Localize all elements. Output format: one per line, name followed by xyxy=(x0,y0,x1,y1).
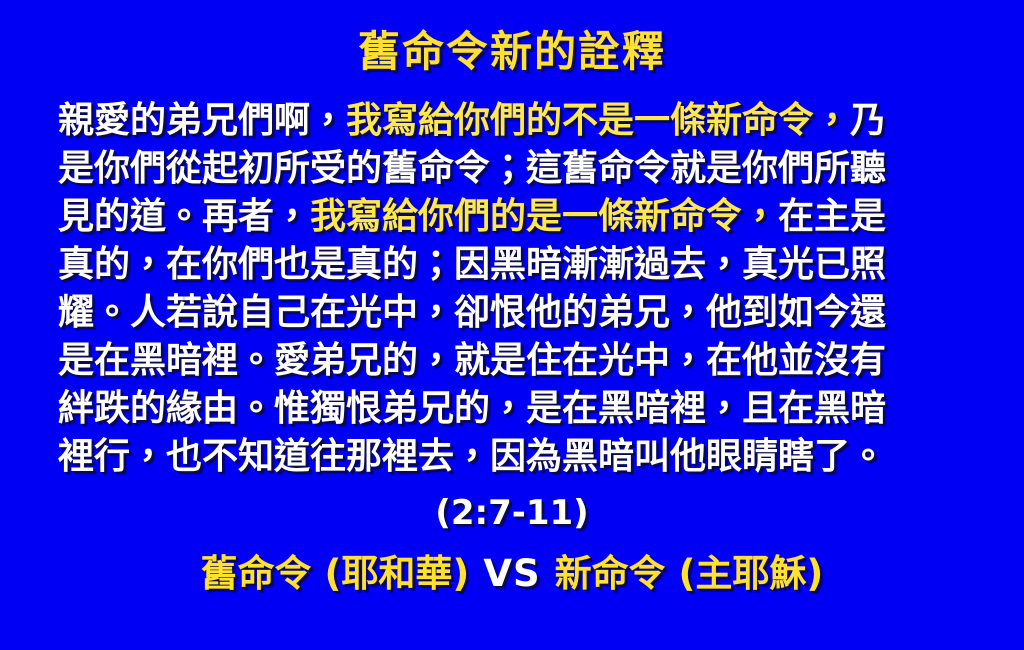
verse-reference: (2:7-11) xyxy=(0,492,1024,534)
scripture-line: 是你們從起初所受的舊命令；這舊命令就是你們所聽 xyxy=(58,145,970,193)
old-command-label: 舊命令 (耶和華) xyxy=(201,552,470,595)
scripture-line: 裡行，也不知道往那裡去，因為黑暗叫他眼睛瞎了。 xyxy=(58,433,970,481)
scripture-text: 絆跌的緣由。惟獨恨弟兄的，是在黑暗裡，且在黑暗 xyxy=(58,388,886,429)
scripture-line: 耀。人若說自己在光中，卻恨他的弟兄，他到如今還 xyxy=(58,289,970,337)
scripture-text: 耀。人若說自己在光中，卻恨他的弟兄，他到如今還 xyxy=(58,292,886,333)
scripture-text: 是你們從起初所受的舊命令；這舊命令就是你們所聽 xyxy=(58,148,886,189)
slide-title: 舊命令新的詮釋 xyxy=(0,26,1024,78)
scripture-line: 絆跌的緣由。惟獨恨弟兄的，是在黑暗裡，且在黑暗 xyxy=(58,385,970,433)
scripture-body: 親愛的弟兄們啊，我寫給你們的不是一條新命令，乃是你們從起初所受的舊命令；這舊命令… xyxy=(58,97,970,481)
new-command-label: 新命令 (主耶穌) xyxy=(555,552,824,595)
scripture-line: 親愛的弟兄們啊，我寫給你們的不是一條新命令，乃 xyxy=(58,97,970,145)
scripture-line: 是在黑暗裡。愛弟兄的，就是住在光中，在他並沒有 xyxy=(58,337,970,385)
scripture-text: 乃 xyxy=(850,100,886,141)
scripture-line: 見的道。再者，我寫給你們的是一條新命令，在主是 xyxy=(58,193,970,241)
scripture-text: 真的，在你們也是真的；因黑暗漸漸過去，真光已照 xyxy=(58,244,886,285)
presentation-slide: 舊命令新的詮釋 親愛的弟兄們啊，我寫給你們的不是一條新命令，乃是你們從起初所受的… xyxy=(0,0,1024,650)
scripture-text: 裡行，也不知道往那裡去，因為黑暗叫他眼睛瞎了。 xyxy=(58,436,886,477)
scripture-text: 在主是 xyxy=(778,196,886,237)
scripture-text: 親愛的弟兄們啊， xyxy=(58,100,346,141)
versus-label: VS xyxy=(469,552,554,595)
command-comparison: 舊命令 (耶和華)VS新命令 (主耶穌) xyxy=(0,550,1024,598)
scripture-text: 見的道。再者， xyxy=(58,196,310,237)
scripture-line: 真的，在你們也是真的；因黑暗漸漸過去，真光已照 xyxy=(58,241,970,289)
scripture-text: 是在黑暗裡。愛弟兄的，就是住在光中，在他並沒有 xyxy=(58,340,886,381)
highlighted-phrase: 我寫給你們的不是一條新命令， xyxy=(346,100,850,141)
highlighted-phrase: 我寫給你們的是一條新命令， xyxy=(310,196,778,237)
